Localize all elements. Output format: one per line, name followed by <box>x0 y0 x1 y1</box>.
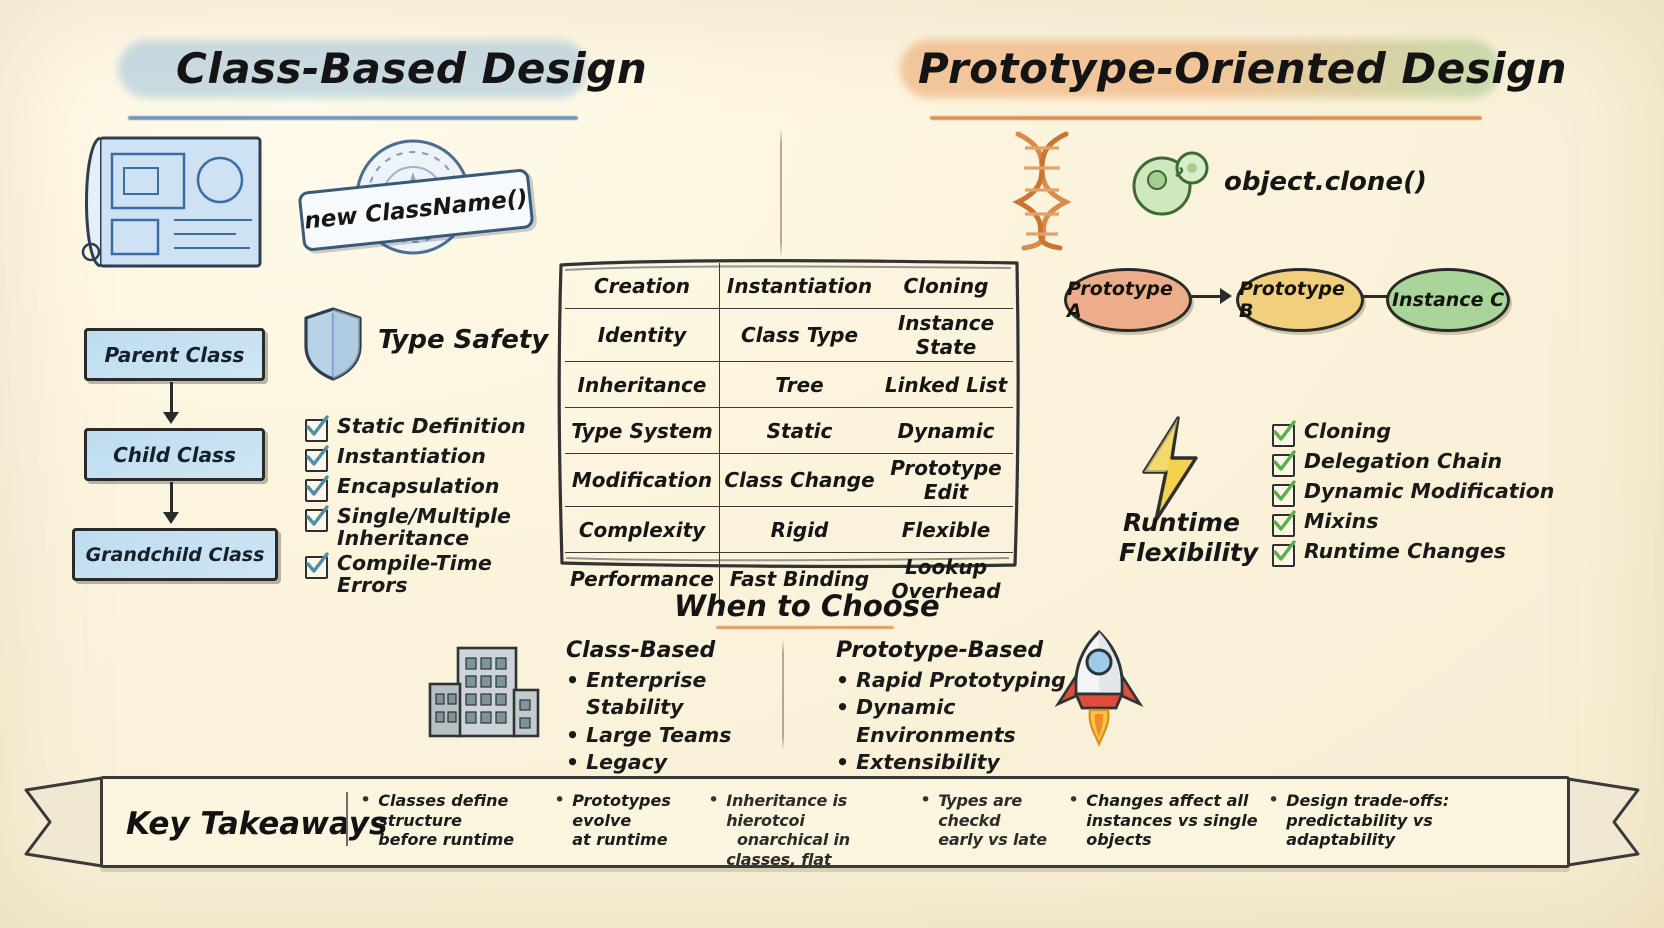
shield-icon <box>302 306 364 382</box>
table-cell: Class Type <box>720 309 880 362</box>
table-row: ComplexityRigidFlexible <box>565 507 1013 553</box>
wtc-left-item: Enterprise Stability <box>586 667 766 722</box>
table-row: ModificationClass ChangePrototype Edit <box>565 454 1013 507</box>
table-cell: Linked List <box>879 362 1013 408</box>
runtime-flexibility-label-line2: Flexibility <box>1119 538 1258 567</box>
right-checklist: Cloning Delegation Chain Dynamic Modific… <box>1272 420 1572 570</box>
takeaway-line1: Changes affect all <box>1086 791 1248 810</box>
chain-node-label: Prototype A <box>1067 278 1189 322</box>
checkbox-checked-icon[interactable] <box>305 556 328 579</box>
table-row: InheritanceTreeLinked List <box>565 362 1013 408</box>
object-clone-label: object.clone() <box>1224 167 1427 197</box>
table-cell: Static <box>720 408 880 454</box>
left-checklist-label: Static Definition <box>337 415 526 437</box>
right-checklist-label: Cloning <box>1304 420 1391 442</box>
checkbox-checked-icon[interactable] <box>1272 514 1295 537</box>
right-checklist-item[interactable]: Dynamic Modification <box>1272 480 1572 507</box>
left-checklist: Static Definition Instantiation Encapsul… <box>305 415 555 600</box>
takeaway-item: • Inheritance is hierotcoi оnarchical in… <box>708 791 914 869</box>
hierarchy-arrow-1-head <box>163 412 179 424</box>
wtc-right-item: Rapid Prototyping <box>856 667 1066 694</box>
takeaway-item: • Classes define structure before runtim… <box>360 791 550 850</box>
takeaway-item: • Design trade-offs: predictability vs a… <box>1268 791 1508 850</box>
takeaway-text: Prototypes evolve at runtime <box>572 791 714 850</box>
comparison-table-grid: CreationInstantiationCloningIdentityClas… <box>565 263 1013 605</box>
left-checklist-item[interactable]: Instantiation <box>305 445 555 472</box>
type-safety-label: Type Safety <box>378 325 548 355</box>
table-cell: Instantiation <box>720 263 880 309</box>
takeaway-text: Changes affect all instances vs single o… <box>1086 791 1280 850</box>
table-cell: Creation <box>565 263 720 309</box>
right-checklist-item[interactable]: Cloning <box>1272 420 1572 447</box>
office-building-icon <box>424 638 542 738</box>
comparison-table: CreationInstantiationCloningIdentityClas… <box>556 256 1022 570</box>
checkbox-checked-icon[interactable] <box>1272 424 1295 447</box>
left-checklist-label: Single/Multiple Inheritance <box>337 505 527 549</box>
bullet-dot-icon: • <box>1068 791 1079 809</box>
checkbox-checked-icon[interactable] <box>305 449 328 472</box>
table-row: Type SystemStaticDynamic <box>565 408 1013 454</box>
table-cell: Tree <box>720 362 880 408</box>
table-cell: Type System <box>565 408 720 454</box>
right-checklist-item[interactable]: Mixins <box>1272 510 1572 537</box>
takeaway-line2: instances vs single objects <box>1086 811 1257 850</box>
class-box-child[interactable]: Child Class <box>84 428 265 481</box>
when-to-choose-divider <box>782 640 784 750</box>
right-checklist-label: Dynamic Modification <box>1304 480 1554 502</box>
table-row: IdentityClass TypeInstance State <box>565 309 1013 362</box>
takeaway-line1: Classes define structure <box>378 791 508 830</box>
wtc-right-item: Dynamic Environments <box>856 694 1066 749</box>
takeaway-line1: Inheritance is hierotcoi <box>726 791 847 830</box>
when-to-choose-title: When to Choose <box>674 589 940 623</box>
right-title-rule <box>930 116 1482 120</box>
takeaway-item: • Types are checkd early vs late <box>920 791 1070 850</box>
table-cell: Inheritance <box>565 362 720 408</box>
takeaway-line1: Types are checkd <box>938 791 1022 830</box>
checkbox-checked-icon[interactable] <box>305 419 328 442</box>
takeaway-line2: оnarchical in classes, flat <box>726 830 850 869</box>
wtc-left-item: Large Teams <box>586 722 731 749</box>
new-classname-badge[interactable]: new ClassName() <box>297 168 534 252</box>
left-checklist-label: Instantiation <box>337 445 486 467</box>
chain-node-prototype-b[interactable]: Prototype B <box>1236 268 1364 332</box>
when-to-choose-right: Prototype-Based •Rapid Prototyping •Dyna… <box>836 638 1066 776</box>
bullet-dot-icon: • <box>836 694 849 749</box>
table-cell: Cloning <box>879 263 1013 309</box>
takeaway-line2: predictability vs adaptability <box>1286 811 1433 850</box>
left-checklist-label: Compile-Time Errors <box>337 552 555 596</box>
key-takeaways-banner: Key Takeaways • Classes define structure… <box>16 762 1648 882</box>
bullet-dot-icon: • <box>554 791 565 809</box>
hierarchy-arrow-2-head <box>163 512 179 524</box>
bullet-dot-icon: • <box>708 791 719 809</box>
chain-arrow-1-head <box>1220 288 1232 304</box>
takeaway-line1: Design trade-offs: <box>1286 791 1449 810</box>
checkbox-checked-icon[interactable] <box>1272 544 1295 567</box>
hierarchy-arrow-2-line <box>170 482 173 515</box>
table-cell: Instance State <box>879 309 1013 362</box>
checkbox-checked-icon[interactable] <box>1272 454 1295 477</box>
cell-division-icon <box>1124 146 1216 238</box>
left-checklist-item[interactable]: Encapsulation <box>305 475 555 502</box>
panel-divider <box>780 128 782 258</box>
bullet-dot-icon: • <box>566 667 579 722</box>
new-classname-label: new ClassName() <box>303 185 529 234</box>
takeaway-item: • Changes affect all instances vs single… <box>1068 791 1280 850</box>
checkbox-checked-icon[interactable] <box>1272 484 1295 507</box>
bullet-dot-icon: • <box>1268 791 1279 809</box>
takeaway-text: Design trade-offs: predictability vs ada… <box>1286 791 1508 850</box>
right-checklist-label: Runtime Changes <box>1304 540 1506 562</box>
rocket-icon <box>1044 626 1154 748</box>
right-panel-title: Prototype-Oriented Design <box>918 44 1567 93</box>
right-checklist-label: Delegation Chain <box>1304 450 1502 472</box>
left-checklist-item[interactable]: Static Definition <box>305 415 555 442</box>
table-cell: Identity <box>565 309 720 362</box>
takeaway-line2: at runtime <box>572 830 667 849</box>
left-checklist-label: Encapsulation <box>337 475 499 497</box>
takeaway-text: Classes define structure before runtime <box>378 791 550 850</box>
table-cell: Dynamic <box>879 408 1013 454</box>
table-cell: Modification <box>565 454 720 507</box>
chain-node-prototype-a[interactable]: Prototype A <box>1064 268 1192 332</box>
chain-arrow-1 <box>1190 295 1222 298</box>
right-checklist-label: Mixins <box>1304 510 1378 532</box>
table-row: CreationInstantiationCloning <box>565 263 1013 309</box>
class-box-parent-label: Parent Class <box>105 343 245 367</box>
wtc-right-heading: Prototype-Based <box>836 638 1066 663</box>
table-cell: Prototype Edit <box>879 454 1013 507</box>
left-checklist-item[interactable]: Compile-Time Errors <box>305 552 555 596</box>
takeaway-text: Inheritance is hierotcoi оnarchical in c… <box>726 791 914 869</box>
hierarchy-arrow-1-line <box>170 382 173 415</box>
class-box-grandchild[interactable]: Grandchild Class <box>72 528 278 581</box>
bullet-dot-icon: • <box>566 722 579 749</box>
dna-helix-icon <box>994 128 1090 252</box>
chain-node-instance-c[interactable]: Instance C <box>1386 268 1510 332</box>
takeaway-line2: early vs late <box>938 830 1047 849</box>
table-cell: Class Change <box>720 454 880 507</box>
table-cell: Flexible <box>879 507 1013 553</box>
class-box-child-label: Child Class <box>113 443 236 467</box>
when-to-choose-rule <box>716 626 894 629</box>
takeaway-line2: before runtime <box>378 830 514 849</box>
takeaway-line1: Prototypes evolve <box>572 791 671 830</box>
checkbox-checked-icon[interactable] <box>305 479 328 502</box>
banner-separator <box>346 792 348 846</box>
right-checklist-item[interactable]: Runtime Changes <box>1272 540 1572 567</box>
wtc-left-heading: Class-Based <box>566 638 766 663</box>
table-cell: Rigid <box>720 507 880 553</box>
takeaway-item: • Prototypes evolve at runtime <box>554 791 714 850</box>
blueprint-scroll-icon <box>74 128 274 276</box>
left-checklist-item[interactable]: Single/Multiple Inheritance <box>305 505 555 549</box>
left-title-rule <box>128 116 578 120</box>
class-box-grandchild-label: Grandchild Class <box>86 544 265 566</box>
bullet-dot-icon: • <box>920 791 931 809</box>
chain-node-label: Instance C <box>1392 289 1504 311</box>
runtime-flexibility-label-line1: Runtime <box>1123 508 1240 537</box>
takeaway-text: Types are checkd early vs late <box>938 791 1070 850</box>
class-box-parent[interactable]: Parent Class <box>84 328 265 381</box>
left-panel-title: Class-Based Design <box>176 44 647 93</box>
right-checklist-item[interactable]: Delegation Chain <box>1272 450 1572 477</box>
key-takeaways-title: Key Takeaways <box>126 806 387 842</box>
table-cell: Complexity <box>565 507 720 553</box>
bullet-dot-icon: • <box>836 667 849 694</box>
chain-node-label: Prototype B <box>1239 278 1361 322</box>
checkbox-checked-icon[interactable] <box>305 509 328 532</box>
bullet-dot-icon: • <box>360 791 371 809</box>
